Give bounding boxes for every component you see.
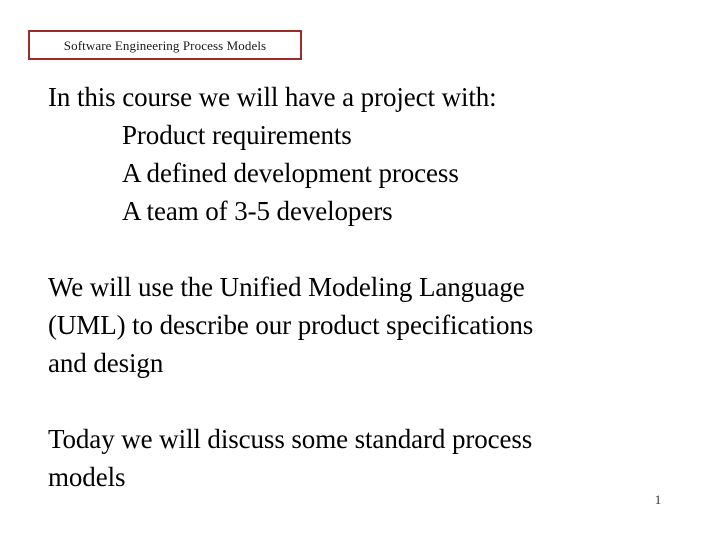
body-line: (UML) to describe our product specificat…	[48, 306, 680, 344]
body-line-indented: A team of 3-5 developers	[48, 192, 680, 230]
body-line: models	[48, 458, 680, 496]
body-line-indented: Product requirements	[48, 116, 680, 154]
body-line: Today we will discuss some standard proc…	[48, 420, 680, 458]
slide-body: In this course we will have a project wi…	[48, 78, 680, 496]
slide-canvas: Software Engineering Process Models In t…	[0, 0, 720, 540]
slide-title-text: Software Engineering Process Models	[64, 39, 266, 52]
paragraph-spacer	[48, 382, 680, 420]
body-paragraph: Today we will discuss some standard proc…	[48, 420, 680, 496]
body-line: In this course we will have a project wi…	[48, 78, 680, 116]
paragraph-spacer	[48, 230, 680, 268]
body-line-indented: A defined development process	[48, 154, 680, 192]
slide-title-box: Software Engineering Process Models	[28, 30, 302, 60]
body-paragraph: We will use the Unified Modeling Languag…	[48, 268, 680, 382]
body-line: and design	[48, 344, 680, 382]
body-paragraph: In this course we will have a project wi…	[48, 78, 680, 230]
body-line: We will use the Unified Modeling Languag…	[48, 268, 680, 306]
page-number: 1	[648, 493, 668, 506]
